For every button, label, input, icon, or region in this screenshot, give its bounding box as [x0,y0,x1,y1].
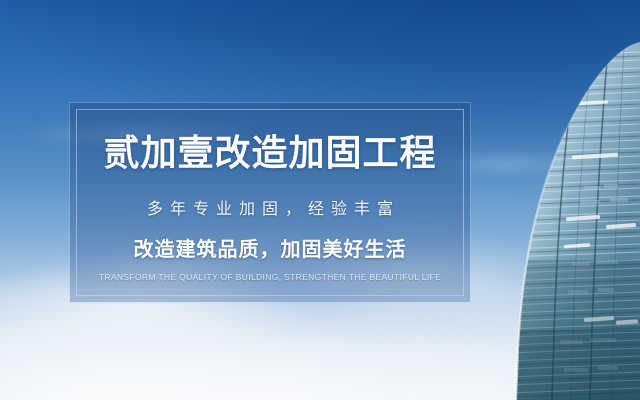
panel-content: 贰加壹改造加固工程 多年专业加固，经验丰富 改造建筑品质，加固美好生活 TRAN… [70,103,470,302]
page-title: 贰加壹改造加固工程 [103,133,436,173]
hero-banner: 贰加壹改造加固工程 多年专业加固，经验丰富 改造建筑品质，加固美好生活 TRAN… [0,0,640,400]
english-tagline-text: TRANSFORM THE QUALITY OF BUILDING, STREN… [99,272,441,282]
skyscraper-image [480,0,640,400]
tagline-text: 改造建筑品质，加固美好生活 [134,233,407,262]
hero-text-panel: 贰加壹改造加固工程 多年专业加固，经验丰富 改造建筑品质，加固美好生活 TRAN… [70,103,470,302]
subtitle-text: 多年专业加固，经验丰富 [140,195,400,219]
